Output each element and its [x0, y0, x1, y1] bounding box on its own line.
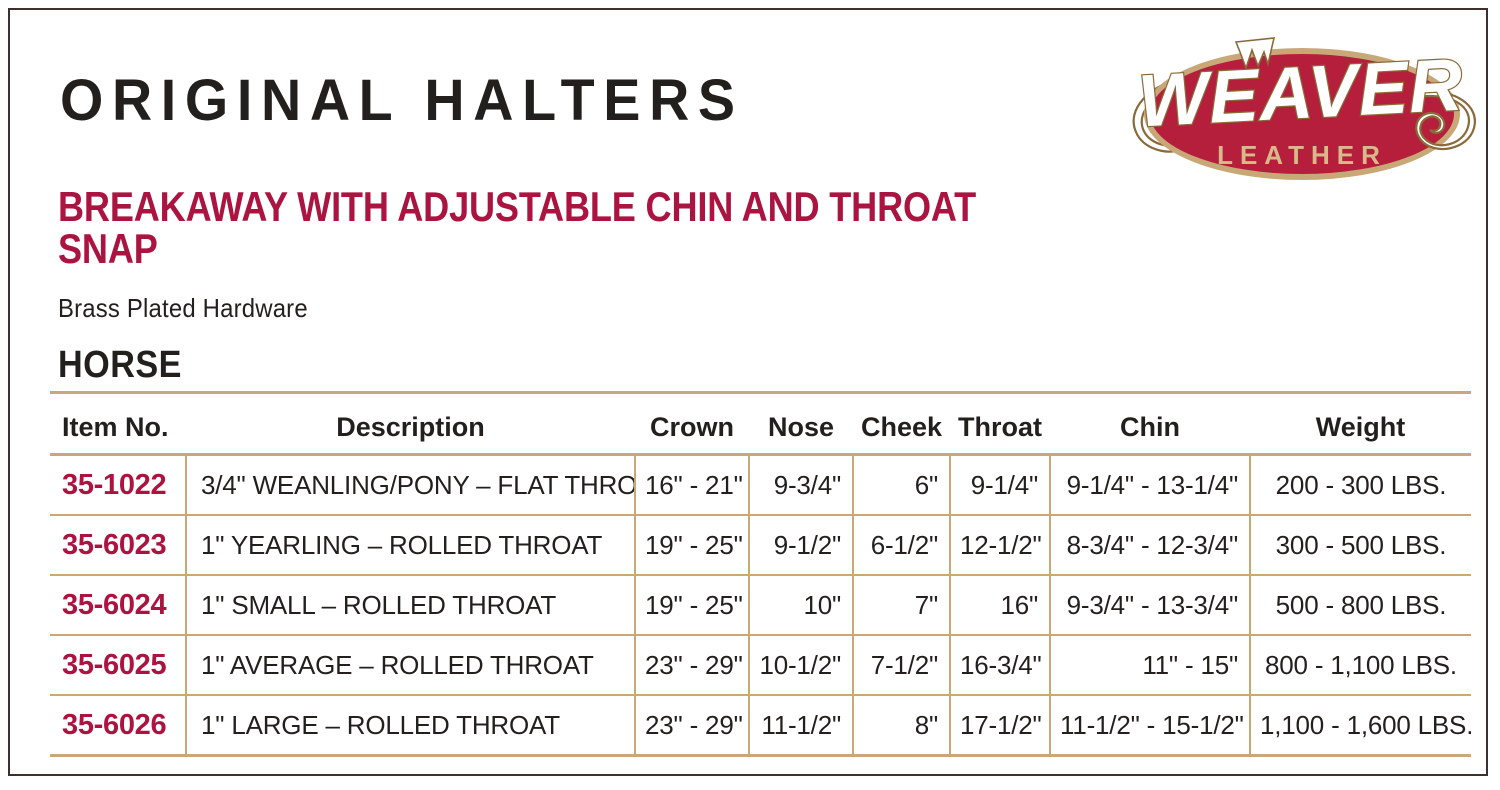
cell-item-no: 35-6023: [50, 515, 186, 575]
cell-chin: 11" - 15": [1050, 635, 1250, 695]
table-row: 35-6023 1" YEARLING – ROLLED THROAT 19" …: [50, 515, 1471, 575]
table-row: 35-6024 1" SMALL – ROLLED THROAT 19" - 2…: [50, 575, 1471, 635]
cell-throat: 16": [950, 575, 1050, 635]
column-header-chin: Chin: [1050, 405, 1250, 455]
column-header-crown: Crown: [635, 405, 749, 455]
cell-nose: 9-1/2": [749, 515, 853, 575]
cell-description: 3/4" WEANLING/PONY – FLAT THROAT: [186, 455, 635, 516]
cell-chin: 9-3/4" - 13-3/4": [1050, 575, 1250, 635]
cell-weight: 200 - 300 LBS.: [1250, 455, 1471, 516]
cell-cheek: 6-1/2": [853, 515, 950, 575]
logo-svg: WEAVER LEATHER: [1118, 32, 1486, 192]
specification-table: Item No. Description Crown Nose Cheek Th…: [50, 405, 1471, 757]
spec-sheet-page: ORIGINAL HALTERS BREAKAWAY WITH ADJUSTAB…: [0, 0, 1500, 790]
cell-throat: 16-3/4": [950, 635, 1050, 695]
page-title: ORIGINAL HALTERS: [60, 72, 744, 130]
cell-nose: 9-3/4": [749, 455, 853, 516]
cell-weight: 800 - 1,100 LBS.: [1250, 635, 1471, 695]
table-row: 35-6026 1" LARGE – ROLLED THROAT 23" - 2…: [50, 695, 1471, 756]
cell-throat: 12-1/2": [950, 515, 1050, 575]
column-header-throat: Throat: [950, 405, 1050, 455]
column-header-cheek: Cheek: [853, 405, 950, 455]
logo-weaver-text: WEAVER: [1136, 43, 1465, 143]
cell-nose: 10-1/2": [749, 635, 853, 695]
cell-weight: 1,100 - 1,600 LBS.: [1250, 695, 1471, 756]
cell-cheek: 8": [853, 695, 950, 756]
cell-chin: 9-1/4" - 13-1/4": [1050, 455, 1250, 516]
hardware-note: Brass Plated Hardware: [58, 293, 308, 324]
logo-leather-text: LEATHER: [1217, 140, 1387, 170]
cell-cheek: 7-1/2": [853, 635, 950, 695]
cell-throat: 9-1/4": [950, 455, 1050, 516]
cell-item-no: 35-1022: [50, 455, 186, 516]
logo-wordmark-weaver: WEAVER: [1136, 43, 1465, 143]
cell-description: 1" AVERAGE – ROLLED THROAT: [186, 635, 635, 695]
cell-item-no: 35-6026: [50, 695, 186, 756]
cell-cheek: 7": [853, 575, 950, 635]
section-title-horse: HORSE: [58, 344, 182, 387]
cell-crown: 19" - 25": [635, 575, 749, 635]
cell-crown: 19" - 25": [635, 515, 749, 575]
cell-weight: 500 - 800 LBS.: [1250, 575, 1471, 635]
cell-chin: 11-1/2" - 15-1/2": [1050, 695, 1250, 756]
cell-chin: 8-3/4" - 12-3/4": [1050, 515, 1250, 575]
table-row: 35-1022 3/4" WEANLING/PONY – FLAT THROAT…: [50, 455, 1471, 516]
table-header: Item No. Description Crown Nose Cheek Th…: [50, 405, 1471, 455]
table-body: 35-1022 3/4" WEANLING/PONY – FLAT THROAT…: [50, 455, 1471, 756]
column-header-item-no: Item No.: [50, 405, 186, 455]
cell-crown: 23" - 29": [635, 635, 749, 695]
table-row: 35-6025 1" AVERAGE – ROLLED THROAT 23" -…: [50, 635, 1471, 695]
cell-crown: 23" - 29": [635, 695, 749, 756]
column-header-description: Description: [186, 405, 635, 455]
page-border-frame: ORIGINAL HALTERS BREAKAWAY WITH ADJUSTAB…: [8, 8, 1488, 776]
cell-nose: 11-1/2": [749, 695, 853, 756]
cell-item-no: 35-6024: [50, 575, 186, 635]
cell-item-no: 35-6025: [50, 635, 186, 695]
cell-cheek: 6": [853, 455, 950, 516]
table-header-row: Item No. Description Crown Nose Cheek Th…: [50, 405, 1471, 455]
cell-crown: 16" - 21": [635, 455, 749, 516]
column-header-nose: Nose: [749, 405, 853, 455]
cell-description: 1" LARGE – ROLLED THROAT: [186, 695, 635, 756]
cell-throat: 17-1/2": [950, 695, 1050, 756]
weaver-leather-logo: WEAVER LEATHER: [1118, 32, 1486, 192]
column-header-weight: Weight: [1250, 405, 1471, 455]
cell-weight: 300 - 500 LBS.: [1250, 515, 1471, 575]
cell-description: 1" SMALL – ROLLED THROAT: [186, 575, 635, 635]
cell-description: 1" YEARLING – ROLLED THROAT: [186, 515, 635, 575]
product-subtitle: BREAKAWAY WITH ADJUSTABLE CHIN AND THROA…: [58, 186, 1004, 269]
cell-nose: 10": [749, 575, 853, 635]
section-divider-rule: [50, 391, 1471, 394]
